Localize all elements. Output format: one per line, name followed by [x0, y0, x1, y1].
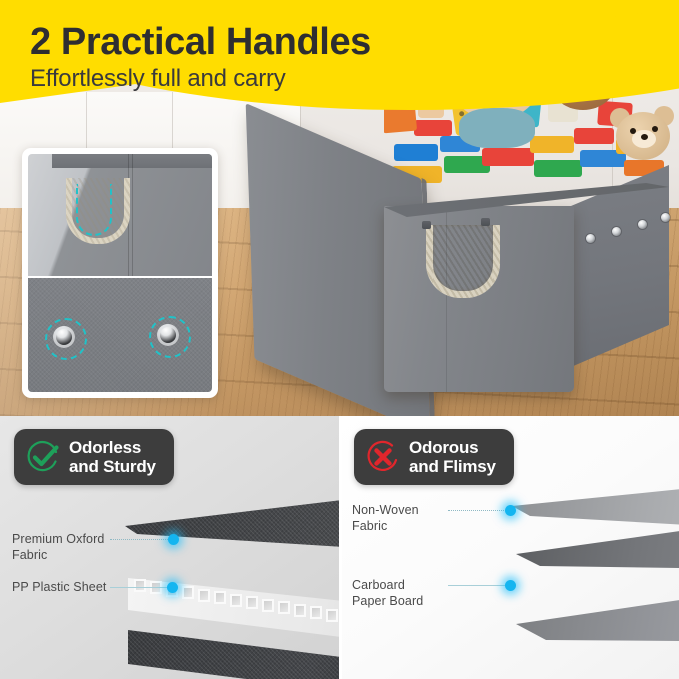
page-title: 2 Practical Handles	[30, 22, 550, 62]
panel-odorless-sturdy: Odorless and Sturdy Premium Oxford Fabri…	[0, 416, 340, 679]
inset-grommet-photo	[28, 278, 212, 392]
product-infographic: 2 Practical Handles Effortlessly full an…	[0, 0, 679, 679]
handle-detail-inset	[22, 148, 218, 398]
panel-odorous-flimsy: Odorous and Flimsy Non-Woven Fabric Carb…	[340, 416, 679, 679]
metal-grommet	[586, 234, 595, 243]
rope-anchor	[422, 221, 431, 229]
badge-odorous-flimsy: Odorous and Flimsy	[354, 429, 514, 485]
leader-line	[448, 585, 506, 587]
metal-grommet	[661, 213, 670, 222]
leader-line	[110, 587, 172, 589]
rope-handle-texture	[426, 225, 500, 298]
badge-text: Odorous and Flimsy	[409, 438, 496, 476]
leader-line	[448, 510, 506, 512]
handle-highlight-dashed-outline	[76, 184, 112, 236]
storage-box	[374, 143, 670, 409]
grommet-highlight-dashed-circle	[45, 318, 87, 360]
panel-divider	[339, 416, 342, 679]
leader-line	[110, 539, 172, 541]
toy-brick	[574, 128, 614, 144]
badge-line2: and Flimsy	[409, 457, 496, 476]
fabric-seam	[132, 154, 133, 276]
callout-dot	[168, 534, 179, 545]
metal-grommet	[638, 220, 647, 229]
label-premium-oxford-fabric: Premium Oxford Fabric	[12, 532, 104, 564]
page-subtitle: Effortlessly full and carry	[30, 66, 550, 93]
label-pp-plastic-sheet: PP Plastic Sheet	[12, 580, 106, 596]
x-circle-icon	[366, 440, 400, 474]
badge-line2: and Sturdy	[69, 457, 156, 476]
badge-line1: Odorous	[409, 438, 478, 457]
headline-block: 2 Practical Handles Effortlessly full an…	[30, 22, 550, 93]
metal-grommet	[612, 227, 621, 236]
bottom-sheet-layer	[516, 566, 679, 679]
grommet-highlight-dashed-circle	[149, 316, 191, 358]
callout-dot	[167, 582, 178, 593]
callout-dot	[505, 580, 516, 591]
badge-odorless-sturdy: Odorless and Sturdy	[14, 429, 174, 485]
hero-product-photo: 2 Practical Handles Effortlessly full an…	[0, 0, 679, 416]
label-non-woven-fabric: Non-Woven Fabric	[352, 503, 419, 535]
callout-dot	[505, 505, 516, 516]
rope-anchor	[481, 218, 490, 226]
badge-line1: Odorless	[69, 438, 141, 457]
badge-text: Odorless and Sturdy	[69, 438, 156, 476]
label-carboard-paper-board: Carboard Paper Board	[352, 578, 423, 610]
non-woven-fabric-layer	[512, 476, 679, 586]
check-circle-icon	[26, 440, 60, 474]
